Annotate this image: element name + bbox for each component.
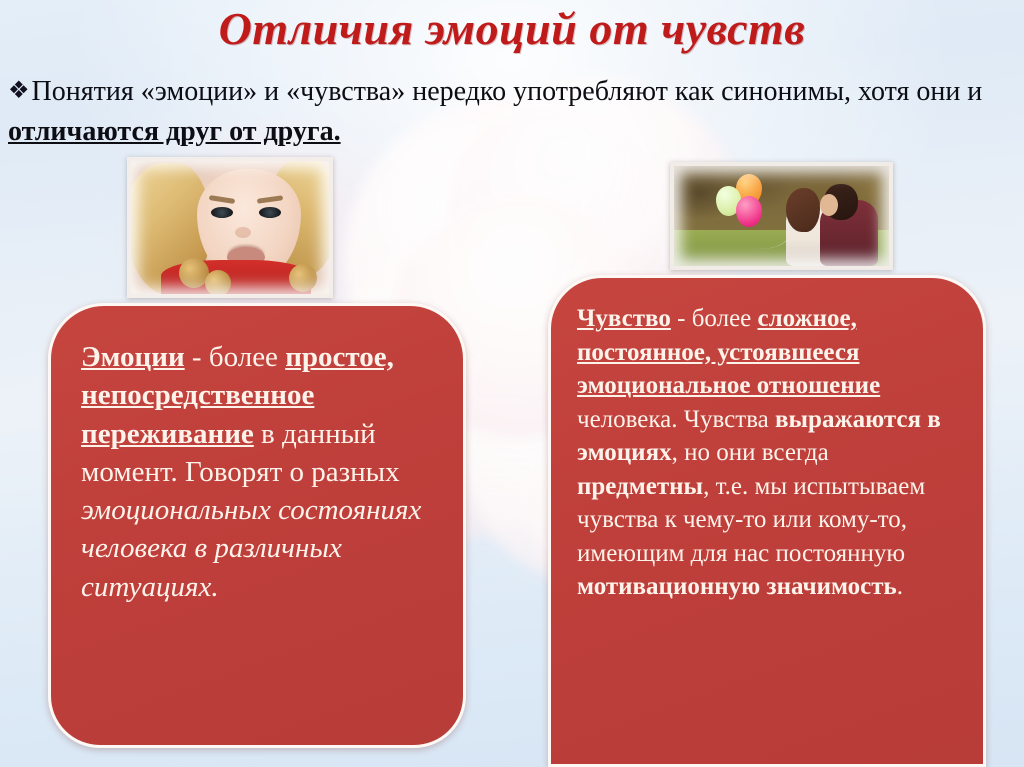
emotions-term: Эмоции <box>81 341 185 373</box>
slide-root: Отличия эмоций от чувств ❖Понятия «эмоци… <box>0 0 1024 767</box>
feelings-plain-4: . <box>897 573 903 600</box>
feelings-bold-2: предметны <box>577 473 703 500</box>
emotions-plain-2: . <box>211 571 218 603</box>
subtitle-text-emphasis: отличаются друг от друга. <box>8 116 341 147</box>
feelings-term: Чувство <box>577 305 671 332</box>
girl-nose <box>235 227 251 238</box>
subtitle-bullet-paragraph: ❖Понятия «эмоции» и «чувства» нередко уп… <box>8 72 1016 152</box>
girl-eye-left <box>211 207 233 218</box>
page-title: Отличия эмоций от чувств <box>0 2 1024 56</box>
feelings-definition-panel: Чувство - более сложное, постоянное, уст… <box>548 275 986 767</box>
couple-woman-hair <box>786 188 820 232</box>
emotions-italic-phrase: эмоциональных состояниях человека в разл… <box>81 494 421 603</box>
girl-hair-curl <box>289 264 317 292</box>
emotions-dash: - <box>185 341 209 373</box>
feelings-dash: - <box>671 305 692 332</box>
feelings-plain-1: человека. Чувства <box>577 406 775 433</box>
subtitle-text-plain: Понятия «эмоции» и «чувства» нередко упо… <box>32 76 983 107</box>
feelings-plain-2: , но они всегда <box>672 439 829 466</box>
diamond-bullet-icon: ❖ <box>8 78 30 104</box>
couple-man-face <box>820 194 838 216</box>
feelings-bold-3: мотивационную значимость <box>577 573 897 600</box>
girl-eye-right <box>259 207 281 218</box>
girl-hair-curl <box>205 270 231 296</box>
feelings-lead: более <box>692 305 758 332</box>
balloon-pink-icon <box>736 196 762 227</box>
couple-with-balloons-photo <box>670 162 893 270</box>
emotions-lead: более <box>209 341 285 373</box>
upset-girl-photo <box>127 157 333 298</box>
emotions-definition-panel: Эмоции - более простое, непосредственное… <box>48 303 466 748</box>
